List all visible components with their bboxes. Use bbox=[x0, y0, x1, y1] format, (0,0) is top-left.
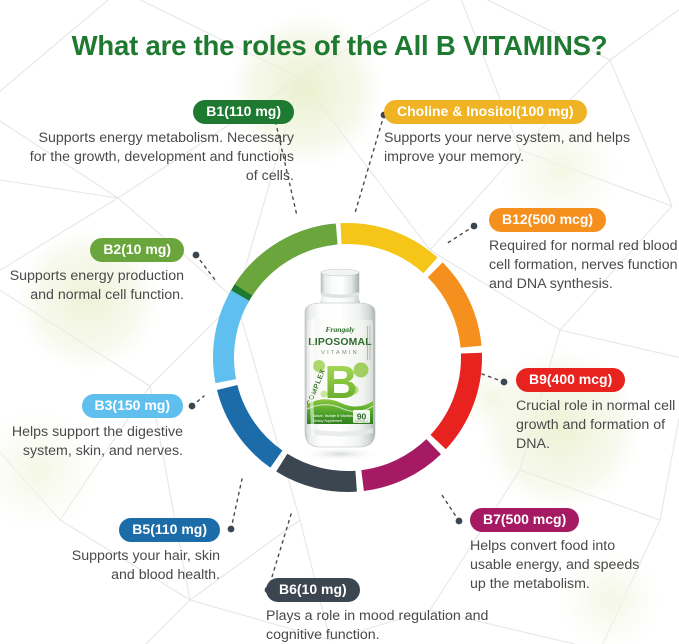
callout-b9[interactable]: B9(400 mcg) Crucial role in normal cell … bbox=[516, 368, 679, 453]
desc-b12: Required for normal red blood cell forma… bbox=[489, 237, 679, 293]
callout-b3[interactable]: B3(150 mg) Helps support the digestive s… bbox=[6, 394, 183, 461]
callout-b1[interactable]: B1(110 mg) Supports energy metabolism. N… bbox=[24, 100, 294, 185]
badge-b12: B12(500 mcg) bbox=[489, 208, 606, 232]
desc-b9: Crucial role in normal cell growth and f… bbox=[516, 397, 679, 453]
page-title: What are the roles of the All B VITAMINS… bbox=[0, 30, 679, 62]
desc-b2: Supports energy production and normal ce… bbox=[4, 267, 184, 304]
callout-b6[interactable]: B6(10 mg) Plays a role in mood regulatio… bbox=[266, 578, 496, 644]
desc-b3: Helps support the digestive system, skin… bbox=[6, 423, 183, 460]
ring-segment-b9 bbox=[438, 353, 471, 442]
badge-choline: Choline & Inositol(100 mg) bbox=[384, 100, 587, 124]
callout-b7[interactable]: B7(500 mcg) Helps convert food into usab… bbox=[470, 508, 655, 593]
callout-b2[interactable]: B2(10 mg) Supports energy production and… bbox=[4, 238, 184, 305]
ring-segment-b12 bbox=[435, 270, 471, 347]
badge-b3: B3(150 mg) bbox=[82, 394, 183, 418]
desc-b6: Plays a role in mood regulation and cogn… bbox=[266, 607, 496, 644]
desc-b1: Supports energy metabolism. Necessary fo… bbox=[24, 129, 294, 185]
bottle-footer-line2: Dietary Supplement bbox=[313, 419, 342, 423]
callout-choline[interactable]: Choline & Inositol(100 mg) Supports your… bbox=[384, 100, 646, 167]
ring-segment-b5 bbox=[227, 387, 276, 459]
desc-choline: Supports your nerve system, and helps im… bbox=[384, 129, 646, 166]
badge-b7: B7(500 mcg) bbox=[470, 508, 579, 532]
ring-segment-b6 bbox=[282, 463, 356, 482]
ring-segment-choline bbox=[341, 234, 430, 266]
desc-b7: Helps convert food into usable energy, a… bbox=[470, 537, 655, 593]
infographic-canvas: What are the roles of the All B VITAMINS… bbox=[0, 0, 679, 644]
ring-segment-b3 bbox=[224, 296, 241, 382]
badge-b2: B2(10 mg) bbox=[90, 238, 184, 262]
desc-b5: Supports your hair, skin and blood healt… bbox=[60, 547, 220, 584]
bottle-footer-line1: Nature, Multiple B Vitamins bbox=[313, 414, 353, 418]
callout-b5[interactable]: B5(110 mg) Supports your hair, skin and … bbox=[60, 518, 220, 585]
bottle-brand-text: Frangaly bbox=[325, 325, 355, 334]
bottle-count-unit: SOFTGELS bbox=[354, 421, 369, 424]
badge-b9: B9(400 mcg) bbox=[516, 368, 625, 392]
bottle-line1-text: LIPOSOMAL bbox=[308, 337, 372, 348]
badge-b1: B1(110 mg) bbox=[193, 100, 294, 124]
callout-b12[interactable]: B12(500 mcg) Required for normal red blo… bbox=[489, 208, 679, 293]
badge-b5: B5(110 mg) bbox=[119, 518, 220, 542]
badge-b6: B6(10 mg) bbox=[266, 578, 360, 602]
product-bottle-image: Frangaly LIPOSOMAL VITAMIN B COMPLEX Nat… bbox=[291, 268, 389, 460]
